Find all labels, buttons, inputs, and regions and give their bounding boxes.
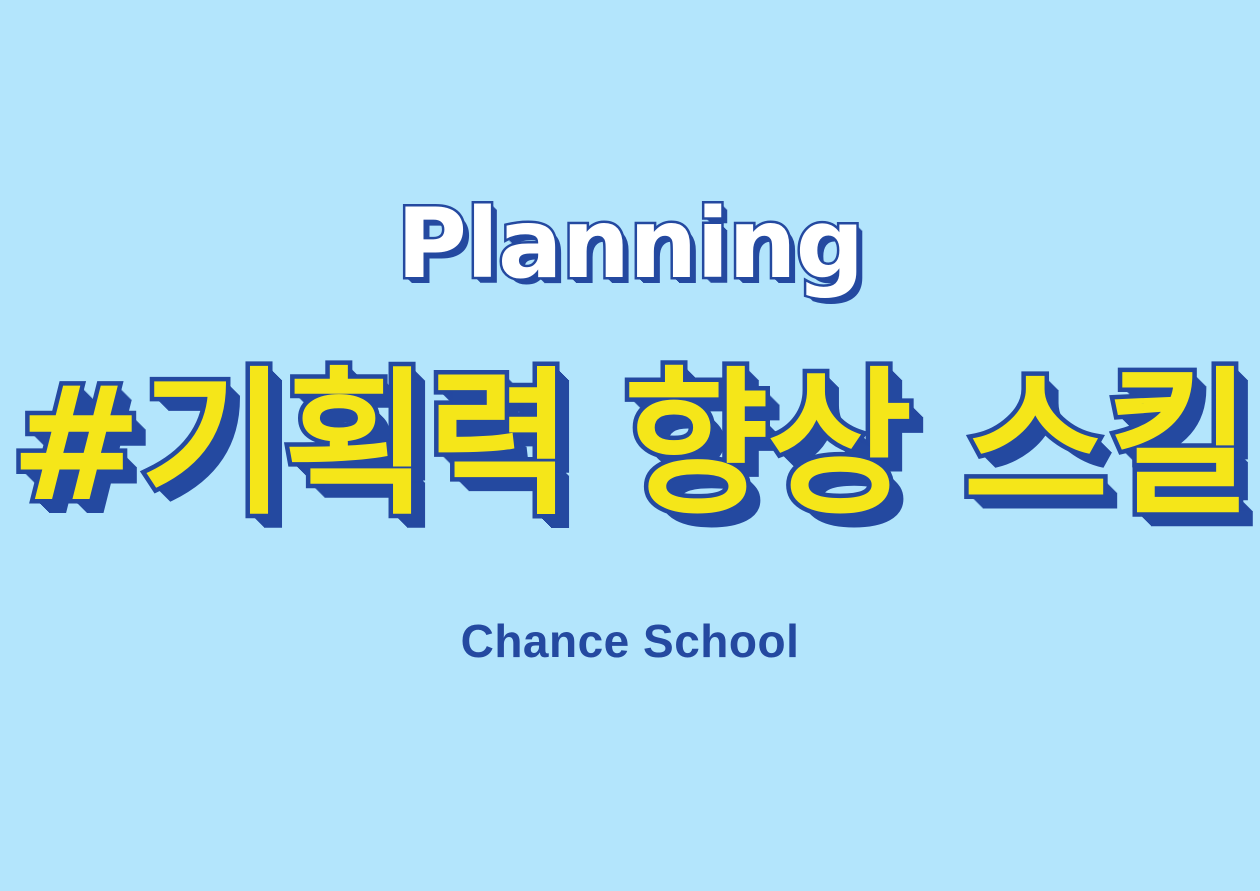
brand-name: Chance School xyxy=(461,616,800,667)
brand-row: Chance School xyxy=(0,616,1260,667)
slide-canvas: Planning #기획력 향상 스킬 Chance School xyxy=(0,0,1260,891)
headline-korean: #기획력 향상 스킬 xyxy=(10,366,1250,524)
headline-english: Planning xyxy=(397,196,864,292)
headline-korean-row: #기획력 향상 스킬 xyxy=(0,366,1260,524)
headline-english-row: Planning xyxy=(0,196,1260,292)
